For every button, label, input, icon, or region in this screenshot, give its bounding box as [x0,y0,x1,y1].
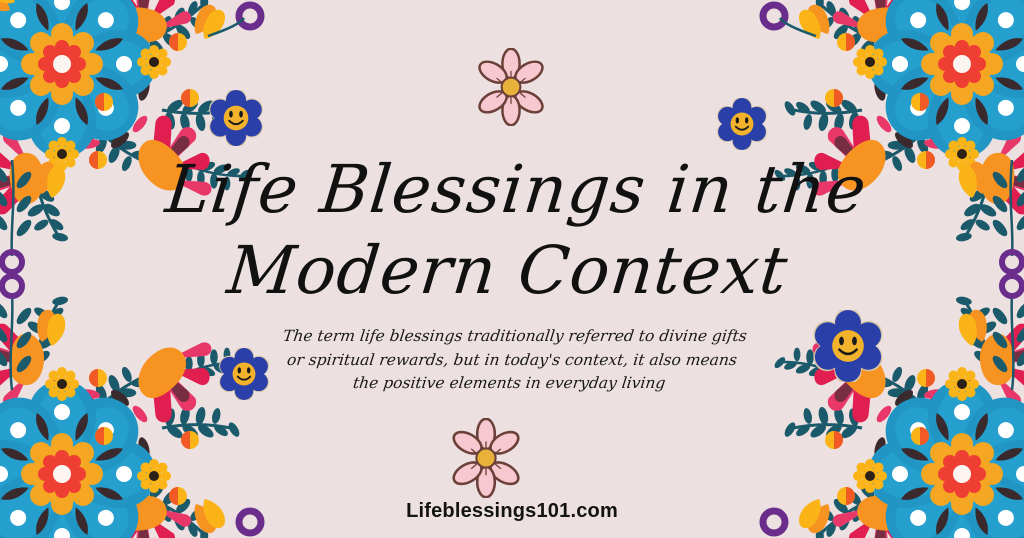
banner: Life Blessings in the Modern Context The… [0,0,1024,538]
site-url-footer: Lifeblessings101.com [0,500,1024,523]
page-title-line-1: Life Blessings in the [132,150,900,231]
content-stack: Life Blessings in the Modern Context The… [0,0,1024,538]
page-subtitle: The term life blessings traditionally re… [273,325,752,396]
page-title-line-2: Modern Context [124,231,892,312]
page-title: Life Blessings in the Modern Context [124,150,901,311]
